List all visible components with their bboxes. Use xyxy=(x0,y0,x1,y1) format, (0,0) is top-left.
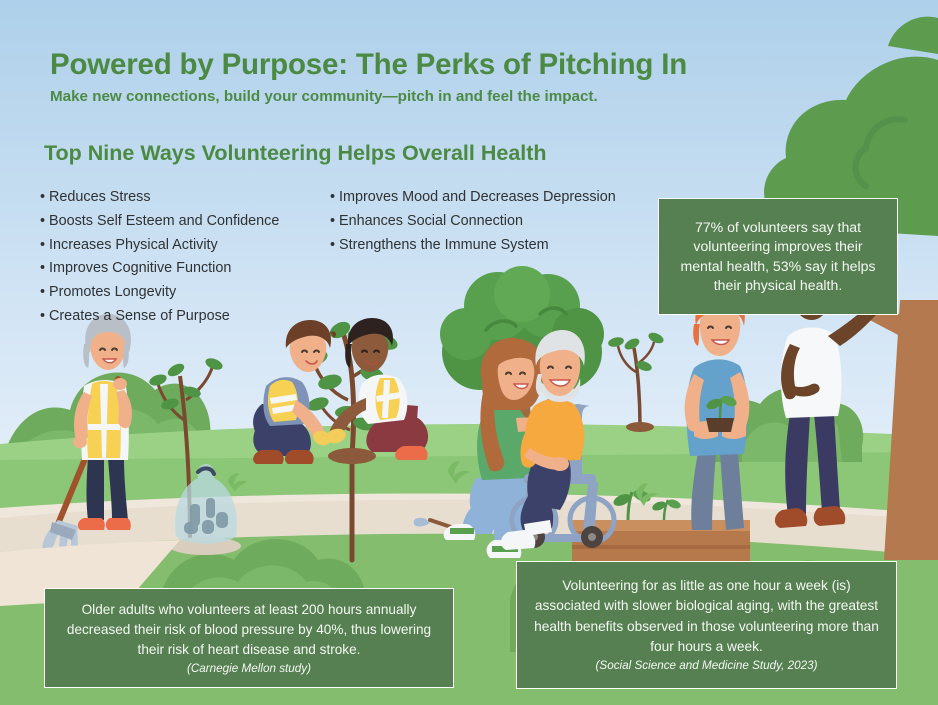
bullet-icon: • xyxy=(40,186,49,210)
bullet-icon: • xyxy=(40,281,49,305)
stat-card-text: Older adults who volunteers at least 200… xyxy=(61,600,437,660)
bullet-icon: • xyxy=(40,257,49,281)
bullet-icon: • xyxy=(40,210,49,234)
benefits-list-right: •Improves Mood and Decreases Depression … xyxy=(330,186,650,257)
text-layer: Powered by Purpose: The Perks of Pitchin… xyxy=(0,0,938,705)
list-item: •Enhances Social Connection xyxy=(330,210,650,234)
page-subtitle: Make new connections, build your communi… xyxy=(50,88,598,105)
list-item-label: Strengthens the Immune System xyxy=(339,237,549,253)
benefits-list-left: •Reduces Stress •Boosts Self Esteem and … xyxy=(40,186,340,329)
bullet-icon: • xyxy=(330,234,339,258)
stat-card-citation: (Social Science and Medicine Study, 2023… xyxy=(596,658,818,674)
page-title: Powered by Purpose: The Perks of Pitchin… xyxy=(50,48,687,82)
stat-card-text: Volunteering for as little as one hour a… xyxy=(531,576,882,657)
bullet-icon: • xyxy=(330,210,339,234)
stat-card-older-adults: Older adults who volunteers at least 200… xyxy=(44,588,454,688)
bullet-icon: • xyxy=(40,305,49,329)
list-item: •Improves Cognitive Function xyxy=(40,257,340,281)
list-item: •Reduces Stress xyxy=(40,186,340,210)
section-heading: Top Nine Ways Volunteering Helps Overall… xyxy=(44,141,547,166)
list-item-label: Increases Physical Activity xyxy=(49,237,218,253)
stat-card-mental-health: 77% of volunteers say that volunteering … xyxy=(658,198,898,315)
list-item-label: Improves Mood and Decreases Depression xyxy=(339,189,616,205)
stat-card-text: 77% of volunteers say that volunteering … xyxy=(673,218,883,296)
infographic-canvas: Powered by Purpose: The Perks of Pitchin… xyxy=(0,0,938,705)
list-item-label: Boosts Self Esteem and Confidence xyxy=(49,213,279,229)
bullet-icon: • xyxy=(330,186,339,210)
stat-card-citation: (Carnegie Mellon study) xyxy=(187,661,311,677)
list-item-label: Promotes Longevity xyxy=(49,284,176,300)
list-item-label: Reduces Stress xyxy=(49,189,151,205)
bullet-icon: • xyxy=(40,234,49,258)
list-item: •Promotes Longevity xyxy=(40,281,340,305)
list-item: •Boosts Self Esteem and Confidence xyxy=(40,210,340,234)
stat-card-biological-aging: Volunteering for as little as one hour a… xyxy=(516,561,897,689)
list-item-label: Creates a Sense of Purpose xyxy=(49,308,230,324)
list-item: •Increases Physical Activity xyxy=(40,234,340,258)
list-item: •Improves Mood and Decreases Depression xyxy=(330,186,650,210)
list-item: •Strengthens the Immune System xyxy=(330,234,650,258)
list-item-label: Enhances Social Connection xyxy=(339,213,523,229)
list-item: •Creates a Sense of Purpose xyxy=(40,305,340,329)
list-item-label: Improves Cognitive Function xyxy=(49,260,231,276)
